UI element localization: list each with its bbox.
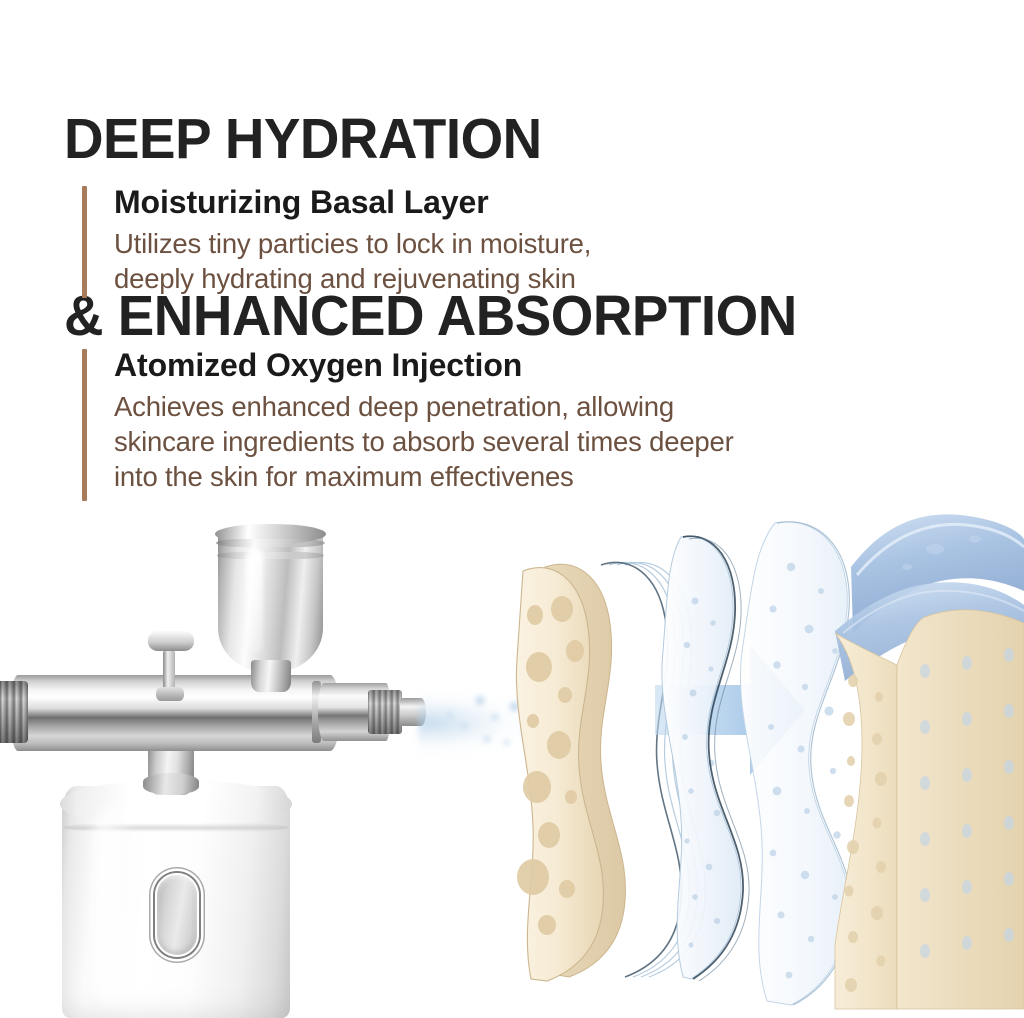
cup-band — [217, 552, 324, 559]
airbrush-end-cap — [0, 681, 28, 743]
membrane-sheet-1 — [662, 536, 749, 981]
mist-droplet — [492, 714, 498, 720]
mist-droplet — [484, 736, 490, 742]
accent-bar — [82, 349, 87, 501]
cup-band — [216, 539, 325, 547]
membrane-sheet-2 — [740, 522, 851, 1005]
skin-cross-section-diagram — [505, 505, 1024, 1018]
mist-droplet — [462, 724, 467, 729]
device-base-highlight — [96, 805, 136, 1005]
trigger-lever[interactable] — [148, 631, 194, 651]
dermis-block — [835, 514, 1024, 1009]
trigger-foot — [156, 687, 184, 701]
product-illustration — [0, 505, 1024, 1018]
feature-title: Moisturizing Basal Layer — [114, 182, 591, 222]
product-feature-banner: DEEP HYDRATION & ENHANCED ABSORPTION Moi… — [0, 0, 1024, 1018]
mist-droplet — [448, 712, 452, 716]
feature-body: Utilizes tiny particies to lock in moist… — [114, 226, 591, 296]
feature-atomized-oxygen-injection: Atomized Oxygen Injection Achieves enhan… — [82, 345, 734, 494]
cup-highlight — [246, 549, 263, 653]
mist-droplet — [476, 696, 484, 705]
feature-moisturizing-basal-layer: Moisturizing Basal Layer Utilizes tiny p… — [82, 182, 591, 296]
cup-neck — [251, 660, 291, 692]
feature-title: Atomized Oxygen Injection — [114, 345, 734, 385]
airbrush-device — [0, 505, 470, 1018]
accent-bar — [82, 186, 87, 298]
headline-line-1: DEEP HYDRATION — [64, 110, 947, 169]
device-stem-collar — [143, 773, 199, 795]
feature-body: Achieves enhanced deep penetration, allo… — [114, 389, 734, 494]
nozzle-knurled-collar — [368, 690, 402, 734]
power-button[interactable] — [155, 873, 199, 957]
